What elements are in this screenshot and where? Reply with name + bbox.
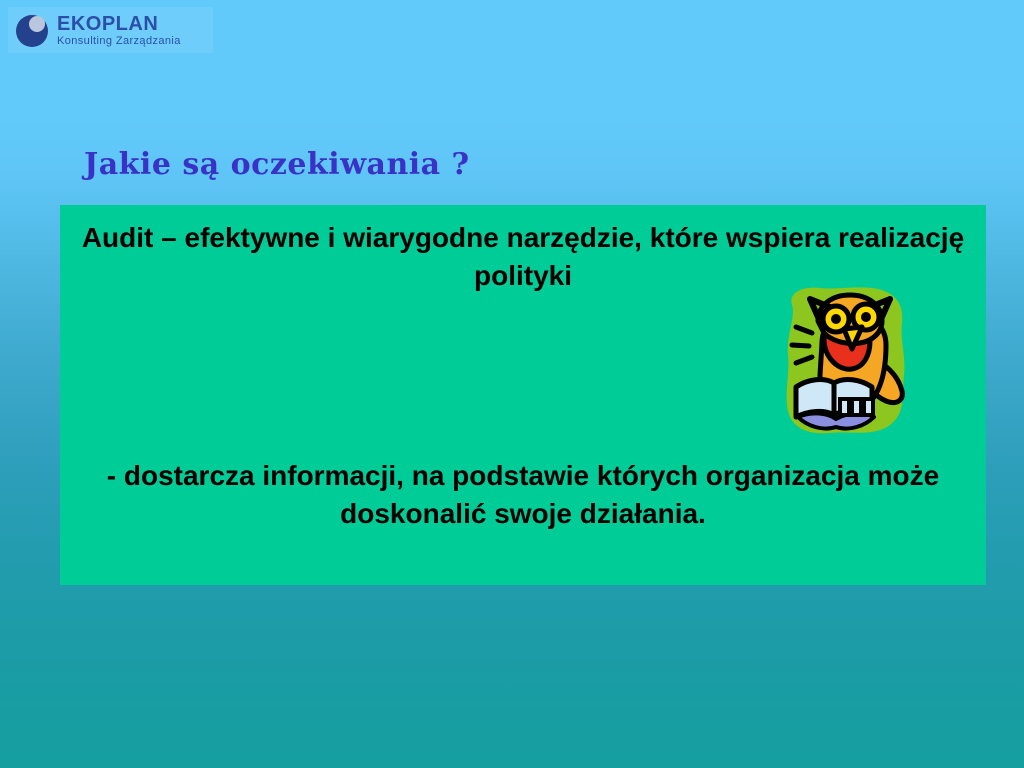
logo-moon-shape: [29, 16, 45, 32]
presentation-slide: EKOPLAN Konsulting Zarządzania Jakie są …: [0, 0, 1024, 768]
crescent-circle-icon: [14, 11, 52, 49]
content-paragraph-two: - dostarcza informacji, na podstawie któ…: [60, 457, 986, 533]
logo-text-block: EKOPLAN Konsulting Zarządzania: [57, 14, 181, 47]
logo-company-name: EKOPLAN: [57, 14, 181, 34]
company-logo: EKOPLAN Konsulting Zarządzania: [8, 7, 213, 53]
slide-title: Jakie są oczekiwania ?: [84, 147, 470, 182]
logo-tagline: Konsulting Zarządzania: [57, 36, 181, 47]
owl-illustration: [778, 283, 914, 438]
